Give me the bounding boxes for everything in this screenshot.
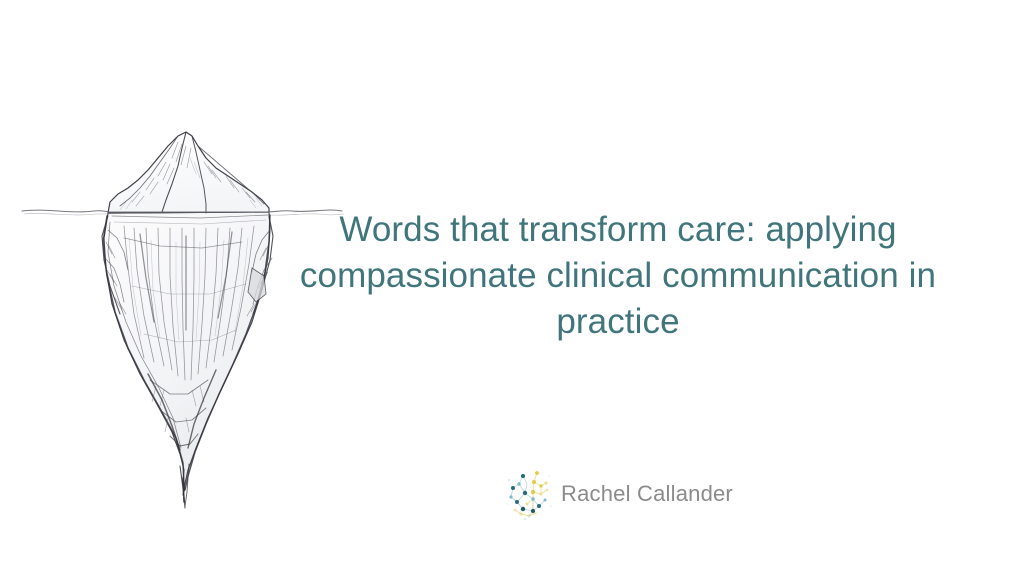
title-block: Words that transform care: applying comp… <box>293 207 943 345</box>
network-constellation-icon <box>503 466 557 522</box>
page-title: Words that transform care: applying comp… <box>293 207 943 345</box>
presentation-slide: Words that transform care: applying comp… <box>0 0 1024 576</box>
brand-name-label: Rachel Callander <box>561 481 733 507</box>
brand-logo: Rachel Callander <box>503 466 733 522</box>
